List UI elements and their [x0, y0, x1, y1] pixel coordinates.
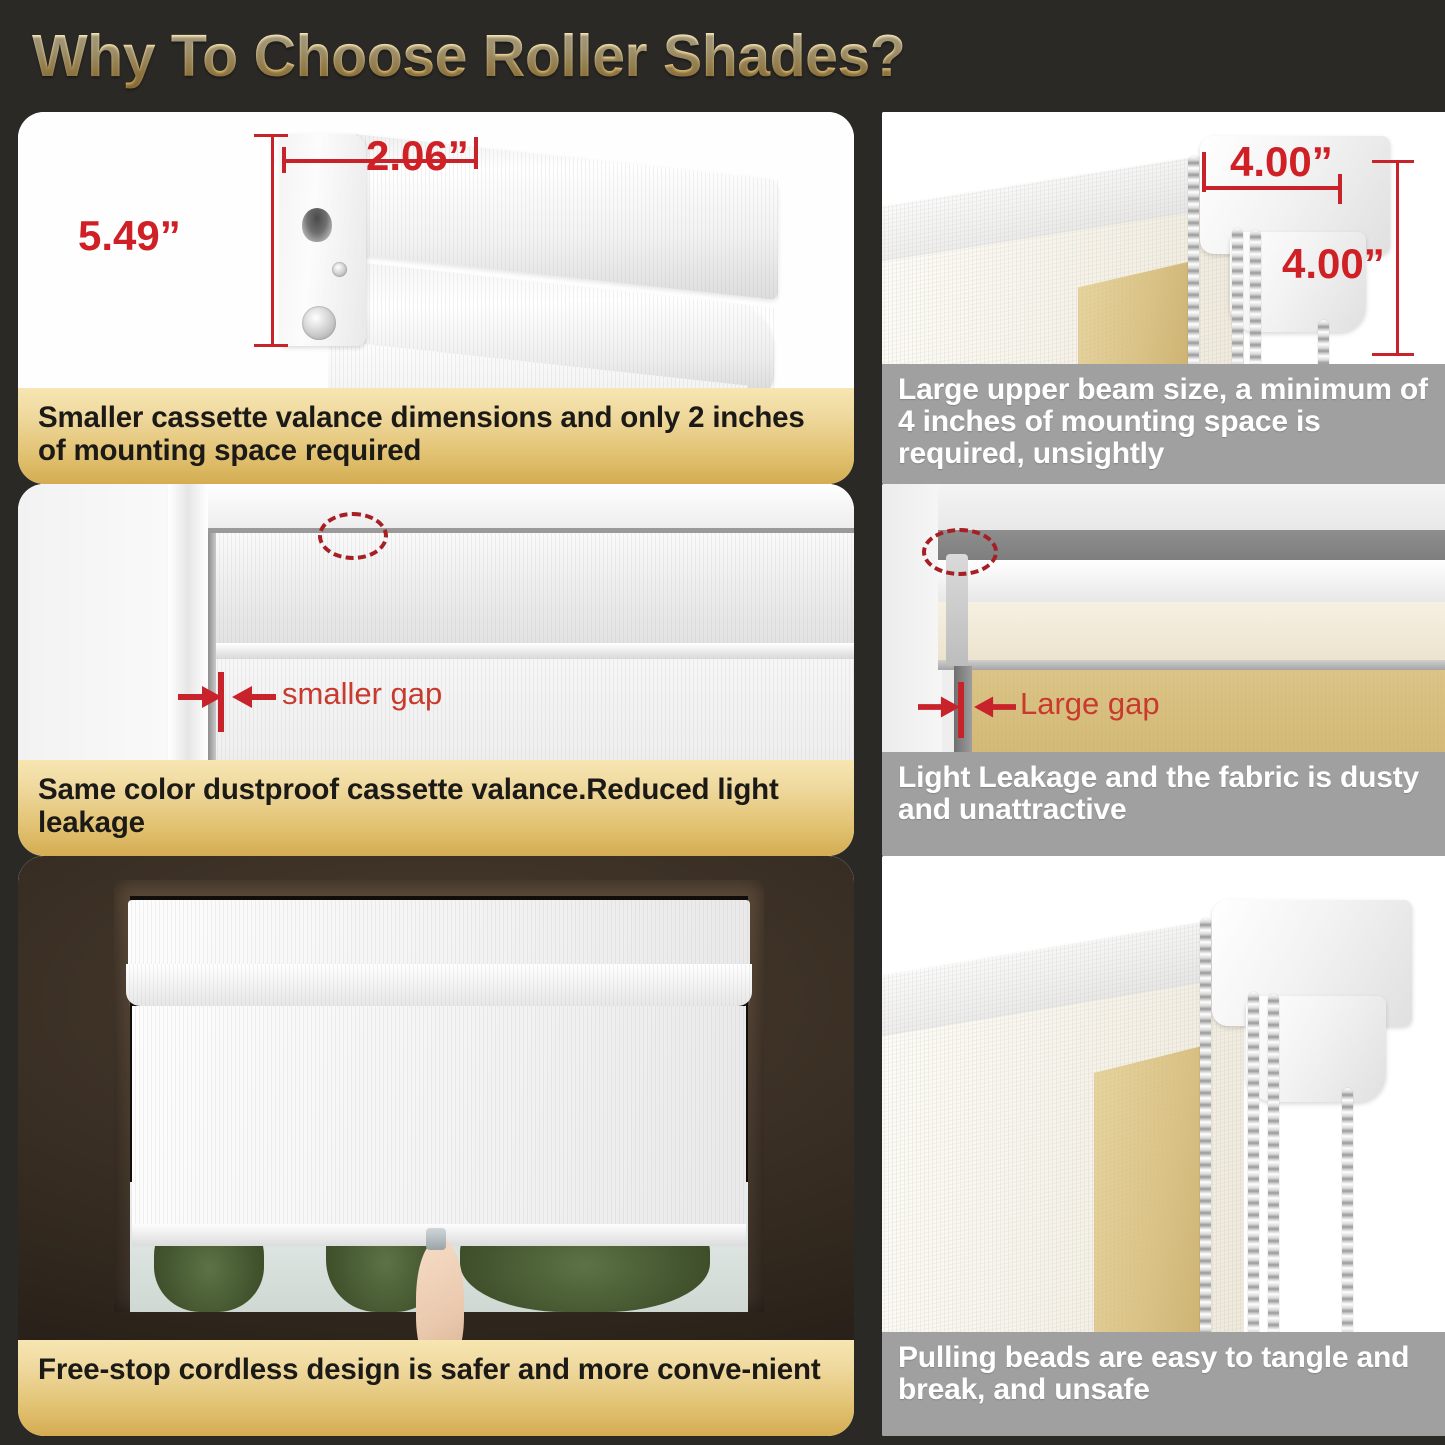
highlight-ellipse-bracket — [922, 528, 998, 576]
caption-pulling-beads: Pulling beads are easy to tangle and bre… — [882, 1332, 1445, 1436]
width-dimension-label: 2.06” — [366, 132, 469, 180]
ceiling-area — [938, 484, 1445, 530]
pull-tab — [426, 1228, 446, 1250]
caption-text: Same color dustproof cassette valance.Re… — [38, 773, 834, 840]
width-dim-tick-left — [282, 147, 286, 173]
bead-chain-4 — [1342, 1088, 1353, 1332]
height-dim-line — [271, 134, 274, 346]
window-header-trim — [208, 484, 854, 528]
roller-bracket-lower — [1246, 996, 1386, 1102]
gap-arrow-right-icon — [232, 684, 276, 710]
caption-dustproof-cassette: Same color dustproof cassette valance.Re… — [18, 760, 854, 856]
large-gap-label: Large gap — [1020, 686, 1160, 722]
beam-width-tick-left — [1202, 152, 1206, 192]
panel-large-upper-beam[interactable]: 4.00” 4.00” Large upper beam size, a min… — [882, 112, 1445, 484]
wall-surface — [18, 484, 178, 760]
valance-gap-shadow — [208, 533, 216, 760]
cassette-end-cap — [280, 134, 366, 346]
shade-fabric — [132, 1006, 746, 1238]
panel-light-leakage[interactable]: Large gap Light Leakage and the fabric i… — [882, 484, 1445, 856]
panel-dustproof-cassette[interactable]: smaller gap Same color dustproof cassett… — [18, 484, 854, 856]
gap-arrow-right-icon — [974, 694, 1016, 720]
comparison-grid: 2.06” 5.49” Smaller cassette valance dim… — [0, 112, 1445, 1445]
beam-height-tick-top — [1372, 160, 1414, 163]
bead-chain-2 — [1248, 992, 1259, 1332]
beam-height-tick-bottom — [1372, 353, 1414, 356]
valance-lip — [208, 643, 854, 659]
width-dim-tick-right — [474, 137, 478, 169]
title-bar: Why To Choose Roller Shades? — [0, 0, 1445, 112]
caption-text: Free-stop cordless design is safer and m… — [38, 1353, 820, 1386]
caption-text: Smaller cassette valance dimensions and … — [38, 401, 834, 468]
beam-height-label: 4.00” — [1282, 240, 1385, 288]
beam-width-dim-line — [1202, 186, 1342, 190]
shade-fabric-tan — [1094, 1046, 1202, 1332]
photo-roller-bracket-4in: 4.00” 4.00” — [882, 112, 1445, 364]
bead-chain-1 — [1188, 156, 1199, 364]
photo-window-cassette-valance: smaller gap — [18, 484, 854, 760]
height-dim-tick-bottom — [254, 344, 288, 347]
page-title: Why To Choose Roller Shades? — [32, 22, 905, 90]
caption-smaller-cassette: Smaller cassette valance dimensions and … — [18, 388, 854, 484]
height-dim-tick-top — [254, 134, 288, 137]
photo-window-exposed-roller: Large gap — [882, 484, 1445, 752]
cassette-valance — [128, 900, 750, 968]
caption-light-leakage: Light Leakage and the fabric is dusty an… — [882, 752, 1445, 856]
panel-pulling-beads[interactable]: Pulling beads are easy to tangle and bre… — [882, 856, 1445, 1436]
screw-icon — [332, 262, 347, 277]
roller-tube-face — [938, 560, 1445, 608]
beam-width-tick-right — [1338, 174, 1342, 204]
highlight-ellipse-top — [318, 512, 388, 560]
bead-chain-2 — [1232, 228, 1243, 364]
bottom-rail — [938, 660, 1445, 670]
caption-text: Pulling beads are easy to tangle and bre… — [898, 1342, 1432, 1406]
panel-cordless-design[interactable]: Free-stop cordless design is safer and m… — [18, 856, 854, 1436]
gap-arrow-left-icon — [178, 684, 222, 710]
mount-screw-icon — [302, 306, 336, 340]
photo-roller-beaded-chains — [882, 856, 1445, 1332]
beam-width-label: 4.00” — [1230, 138, 1333, 186]
bead-chain-1 — [1200, 918, 1211, 1332]
smaller-gap-label: smaller gap — [282, 676, 442, 712]
caption-large-upper-beam: Large upper beam size, a minimum of 4 in… — [882, 364, 1445, 484]
bead-chain-3 — [1250, 230, 1261, 364]
caption-text: Light Leakage and the fabric is dusty an… — [898, 762, 1432, 826]
bead-chain-3 — [1268, 994, 1279, 1332]
window-casing — [168, 484, 208, 760]
beam-height-dim-line — [1396, 160, 1399, 356]
hand-pulling-shade — [416, 1240, 464, 1340]
shade-fabric-cream — [938, 602, 1445, 664]
photo-room-window-cordless — [18, 856, 854, 1340]
bead-chain-4 — [1318, 320, 1329, 364]
photo-cassette-valance-profile: 2.06” 5.49” — [18, 112, 854, 388]
valance-lower-lip — [126, 964, 752, 1006]
infographic-page: Why To Choose Roller Shades? 2.06” — [0, 0, 1445, 1445]
height-dimension-label: 5.49” — [78, 212, 181, 260]
cassette-valance-face — [208, 533, 854, 643]
caption-cordless-design: Free-stop cordless design is safer and m… — [18, 1340, 854, 1436]
gap-arrow-left-icon — [918, 694, 960, 720]
caption-text: Large upper beam size, a minimum of 4 in… — [898, 374, 1432, 470]
panel-smaller-cassette[interactable]: 2.06” 5.49” Smaller cassette valance dim… — [18, 112, 854, 484]
